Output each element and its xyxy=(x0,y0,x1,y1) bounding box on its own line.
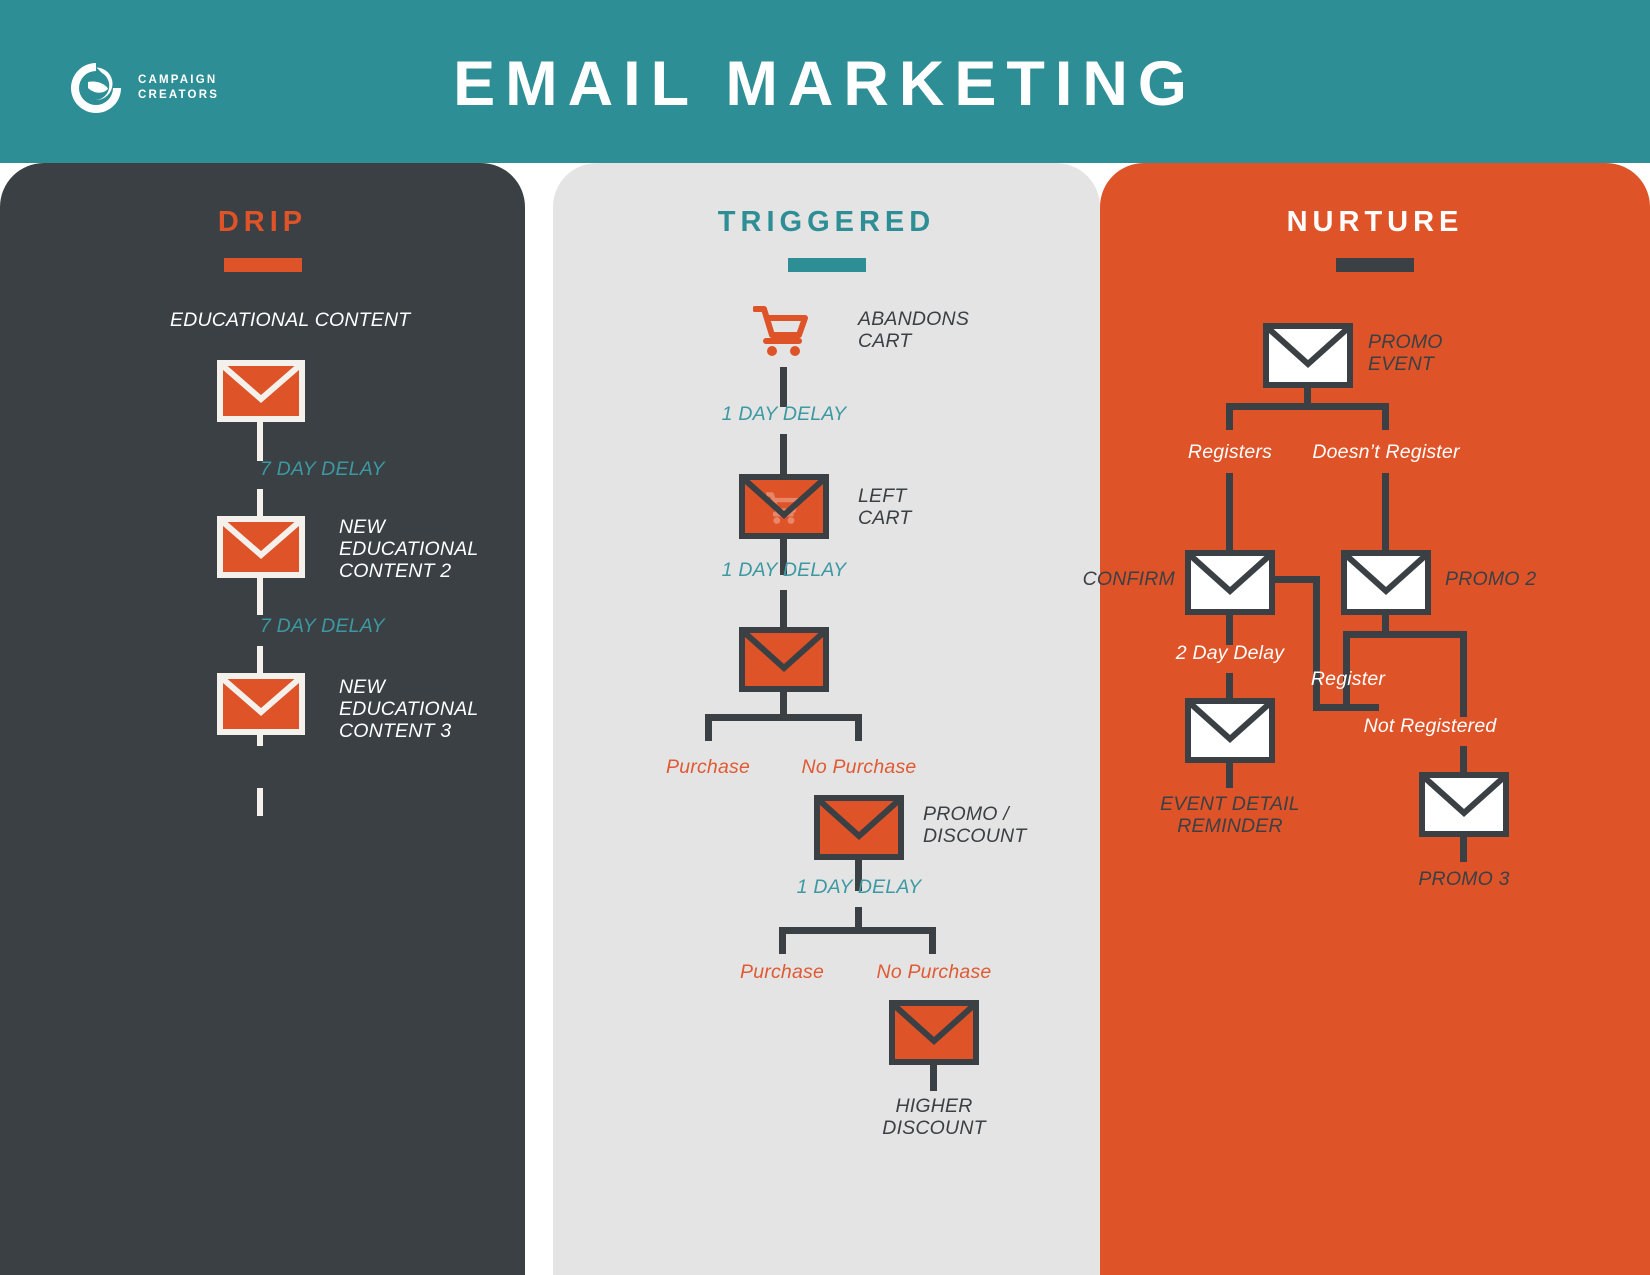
envelope-icon-promo-3 xyxy=(1419,772,1509,837)
envelope-icon-event-detail-reminder xyxy=(1185,698,1275,763)
connector-trig-split1-h xyxy=(705,714,862,721)
connector-nurture-split1-left xyxy=(1226,403,1233,430)
label-promo-3: PROMO 3 xyxy=(1418,868,1509,890)
envelope-icon-new-educational-content-2 xyxy=(217,516,305,578)
envelope-icon-confirm xyxy=(1185,550,1275,615)
connector-drip-tail-2 xyxy=(257,788,263,816)
label-promo-2: PROMO 2 xyxy=(1445,568,1536,590)
connector-nurture-2 xyxy=(1226,473,1233,553)
delay-nurture-1: 2 Day Delay xyxy=(1176,642,1284,664)
column-nurture-rule xyxy=(1336,258,1414,272)
branch-not-registered: Not Registered xyxy=(1364,715,1497,737)
label-new-educational-content-3: NEW EDUCATIONAL CONTENT 3 xyxy=(339,676,478,743)
column-triggered-title: TRIGGERED xyxy=(553,206,1100,239)
connector-drip-tail-1 xyxy=(257,732,263,746)
branch-no-purchase-2: No Purchase xyxy=(877,961,992,983)
delay-trig-2: 1 DAY DELAY xyxy=(722,559,847,581)
connector-nurture-3 xyxy=(1382,473,1389,553)
shopping-cart-icon xyxy=(753,305,811,357)
infographic-page: CAMPAIGN CREATORS EMAIL MARKETING DRIP E… xyxy=(0,0,1650,1275)
column-triggered-rule xyxy=(788,258,866,272)
branch-no-purchase-1: No Purchase xyxy=(802,756,917,778)
connector-trig-split2-right xyxy=(929,927,936,954)
column-drip: DRIP EDUCATIONAL CONTENT 7 DAY DELAY NEW… xyxy=(0,163,525,1275)
label-confirm: CONFIRM xyxy=(1025,568,1175,590)
label-promo-event: PROMO EVENT xyxy=(1368,331,1443,375)
page-header: CAMPAIGN CREATORS EMAIL MARKETING xyxy=(0,0,1650,163)
column-triggered: TRIGGERED ABANDONS CART 1 DAY DELAY xyxy=(553,163,1100,1275)
connector-trig-split2-h xyxy=(779,927,936,934)
branch-doesnt-register: Doesn’t Register xyxy=(1312,441,1459,463)
connector-trig-2 xyxy=(780,434,787,476)
connector-trig-1 xyxy=(780,367,787,407)
connector-trig-split1-right xyxy=(855,714,862,741)
connector-nurture-split2-h xyxy=(1343,631,1467,638)
connector-nurture-6 xyxy=(1226,761,1233,788)
envelope-icon-promo-event xyxy=(1263,323,1353,388)
connector-trig-split1-left xyxy=(705,714,712,741)
page-title: EMAIL MARKETING xyxy=(0,48,1650,120)
label-new-educational-content-2: NEW EDUCATIONAL CONTENT 2 xyxy=(339,516,478,583)
column-nurture-title: NURTURE xyxy=(1100,206,1650,239)
connector-nurture-split1-right xyxy=(1382,403,1389,430)
envelope-icon-promo-2 xyxy=(1341,550,1431,615)
connector-nurture-5 xyxy=(1226,673,1233,701)
label-event-detail-reminder: EVENT DETAIL REMINDER xyxy=(1160,793,1300,837)
envelope-icon-followup xyxy=(739,627,829,692)
envelope-icon-higher-discount xyxy=(889,1000,979,1065)
label-higher-discount: HIGHER DISCOUNT xyxy=(882,1095,985,1139)
envelope-cart-icon-left-cart xyxy=(739,474,829,539)
column-nurture: NURTURE PROMO EVENT Registers Doesn’t Re… xyxy=(1100,163,1650,1275)
connector-trig-4 xyxy=(780,590,787,630)
connector-drip-3 xyxy=(257,575,263,615)
envelope-icon-new-educational-content-3 xyxy=(217,673,305,735)
label-left-cart: LEFT CART xyxy=(858,485,912,529)
label-educational-content: EDUCATIONAL CONTENT xyxy=(170,309,410,331)
connector-trig-8 xyxy=(930,1063,937,1091)
delay-drip-1: 7 DAY DELAY xyxy=(260,458,385,480)
connector-nurture-4 xyxy=(1226,613,1233,645)
branch-registers: Registers xyxy=(1188,441,1272,463)
connector-nurture-8 xyxy=(1460,746,1467,775)
delay-trig-1: 1 DAY DELAY xyxy=(722,403,847,425)
column-drip-rule xyxy=(224,258,302,272)
connector-trig-split2-left xyxy=(779,927,786,954)
connector-nurture-split2-right xyxy=(1460,631,1467,717)
connector-confirm-out-v xyxy=(1313,576,1320,711)
connector-drip-2 xyxy=(257,489,263,519)
branch-purchase-2: Purchase xyxy=(740,961,824,983)
delay-drip-2: 7 DAY DELAY xyxy=(260,615,385,637)
connector-drip-1 xyxy=(257,419,263,461)
delay-trig-3: 1 DAY DELAY xyxy=(797,876,922,898)
branch-purchase-1: Purchase xyxy=(666,756,750,778)
connector-drip-4 xyxy=(257,646,263,676)
envelope-icon-promo-discount xyxy=(814,795,904,860)
label-promo-discount: PROMO / DISCOUNT xyxy=(923,803,1026,847)
connector-nurture-9 xyxy=(1460,835,1467,862)
column-drip-title: DRIP xyxy=(0,206,525,239)
connector-nurture-split1-h xyxy=(1226,403,1389,410)
label-abandons-cart: ABANDONS CART xyxy=(858,308,969,352)
envelope-icon-educational-content xyxy=(217,360,305,422)
branch-register: Register xyxy=(1311,668,1385,690)
